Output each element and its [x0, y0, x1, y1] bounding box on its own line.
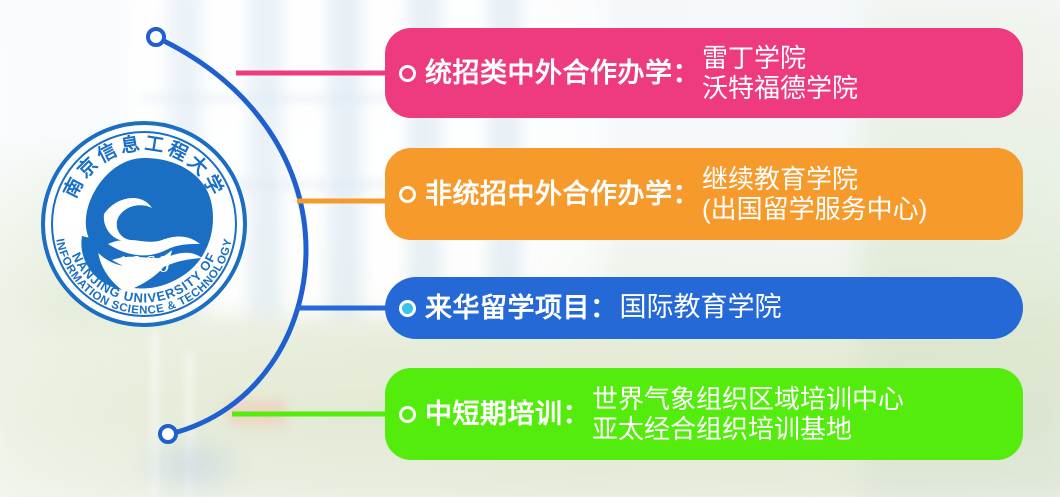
university-logo: 1960 南京信息工程大学 NANJING UNIVERSITY OF INFO… [38, 118, 250, 330]
row-bullet-icon [399, 406, 416, 423]
arc-endpoint-top-icon [148, 29, 164, 45]
logo-year: 1960 [117, 252, 171, 278]
infographic-canvas: 1960 南京信息工程大学 NANJING UNIVERSITY OF INFO… [0, 0, 1060, 497]
row-label: 统招类中外合作办学： [425, 58, 700, 88]
row-bullet-icon [399, 65, 416, 82]
category-row-non-tongzhao-joint-program[interactable]: 非统招中外合作办学： 继续教育学院 (出国留学服务中心) [385, 148, 1023, 240]
row-value: 国际教育学院 [620, 292, 1006, 323]
category-row-tongzhao-joint-program[interactable]: 统招类中外合作办学： 雷丁学院 沃特福德学院 [385, 28, 1023, 118]
row-bullet-icon [399, 186, 416, 203]
row-value: 继续教育学院 (出国留学服务中心) [702, 164, 1005, 224]
arc-endpoint-bottom-icon [160, 426, 176, 442]
row-value: 世界气象组织区域培训中心 亚太经合组织培训基地 [592, 384, 1005, 444]
category-row-international-students-program[interactable]: 来华留学项目： 国际教育学院 [385, 277, 1023, 339]
row-label: 来华留学项目： [425, 293, 618, 323]
category-row-short-term-training[interactable]: 中短期培训： 世界气象组织区域培训中心 亚太经合组织培训基地 [385, 368, 1023, 460]
row-value: 雷丁学院 沃特福德学院 [702, 43, 1005, 103]
row-bullet-icon [399, 300, 416, 317]
row-label: 非统招中外合作办学： [425, 179, 700, 209]
row-label: 中短期培训： [425, 399, 590, 429]
